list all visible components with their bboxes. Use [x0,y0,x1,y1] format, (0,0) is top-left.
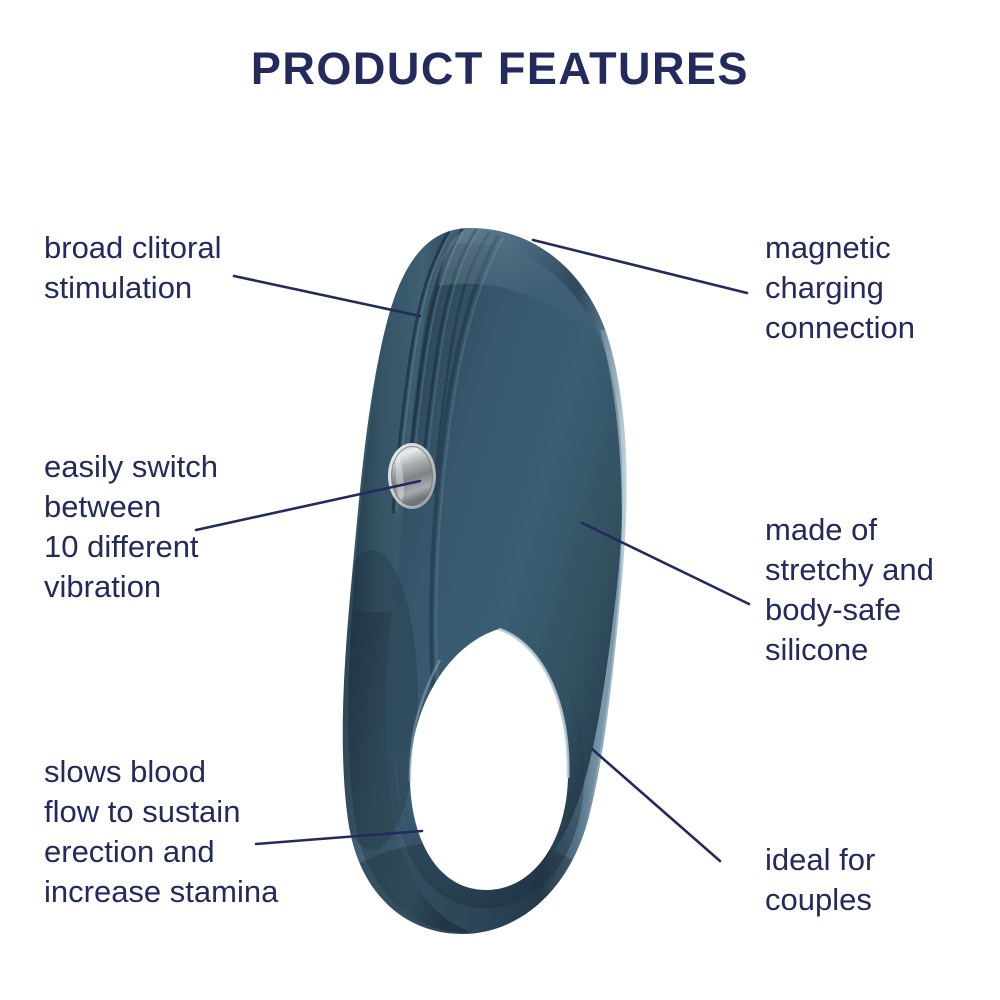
callout-easily-switch-vibration: easily switch between 10 different vibra… [44,447,344,607]
callout-made-of-silicone: made of stretchy and body-safe silicone [765,510,1000,670]
callout-broad-clitoral-stimulation: broad clitoral stimulation [44,228,344,308]
power-button[interactable] [388,443,436,509]
leader-line-made-of-silicone [582,523,749,604]
product-features-infographic: PRODUCT FEATURES [0,0,1000,1000]
leader-line-ideal-for-couples [592,749,720,861]
product-crease [431,236,498,724]
callout-slows-blood-flow: slows blood flow to sustain erection and… [44,752,374,912]
leader-line-magnetic-charging [533,240,747,293]
ring-aperture [410,629,568,890]
product-ring-hole [394,610,584,908]
callout-magnetic-charging-connection: magnetic charging connection [765,228,1000,348]
product-silhouette [343,228,627,934]
product-ridges [393,229,489,512]
product-right-lobe [392,243,623,891]
page-title: PRODUCT FEATURES [0,44,1000,94]
callout-ideal-for-couples: ideal for couples [765,840,995,920]
product-right-highlight [586,330,636,818]
